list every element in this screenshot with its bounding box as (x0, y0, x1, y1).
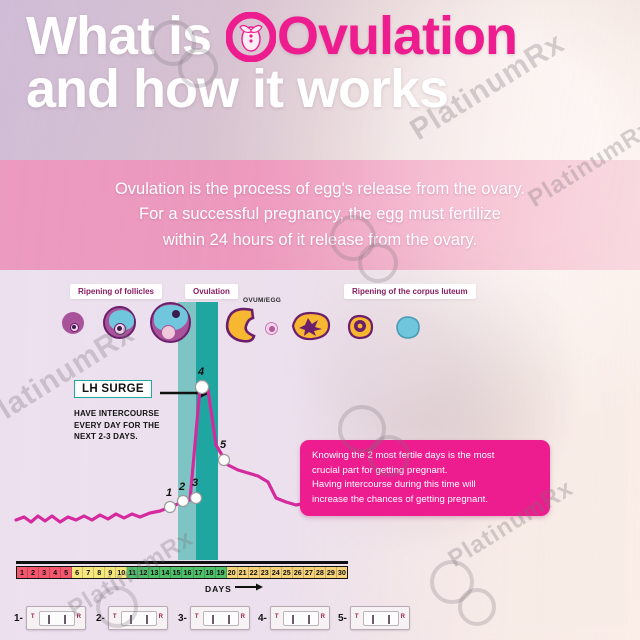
day-cell-25: 25 (282, 567, 293, 578)
day-cell-20: 20 (227, 567, 238, 578)
subtitle-banner: Ovulation is the process of egg's releas… (0, 160, 640, 270)
svg-text:4: 4 (197, 366, 204, 378)
strip-result-band (228, 615, 230, 624)
day-cell-12: 12 (138, 567, 149, 578)
day-cell-30: 30 (337, 567, 347, 578)
callout-line-1: Knowing the 2 most fertile days is the m… (312, 449, 538, 464)
test-strip-card: TR (270, 606, 330, 630)
test-strip-number: 4- (258, 613, 267, 624)
test-strip-number: 2- (96, 613, 105, 624)
day-cell-2: 2 (28, 567, 39, 578)
title-text-pre: What is (26, 6, 225, 66)
day-cell-7: 7 (83, 567, 94, 578)
day-cell-16: 16 (182, 567, 193, 578)
day-axis: 1234567891011121314151617181920212223242… (16, 566, 348, 579)
strip-result-band (130, 615, 132, 624)
test-strip-1: 1-TR (14, 606, 86, 630)
day-cell-11: 11 (127, 567, 138, 578)
strip-test-mark: T (275, 614, 279, 620)
strip-result-window (121, 611, 157, 626)
day-cell-1: 1 (17, 567, 28, 578)
callout-line-2: crucial part for getting pregnant. (312, 464, 538, 479)
strip-result-band (388, 615, 390, 624)
subtitle-line-2: For a successful pregnancy, the egg must… (139, 202, 501, 228)
test-strip-3: 3-TR (178, 606, 250, 630)
strip-test-mark: T (113, 614, 117, 620)
tulip-flower-icon (226, 12, 276, 62)
header-banner: What is Ovulation and how it works (0, 0, 640, 160)
strip-ref-mark: R (401, 614, 405, 620)
day-cell-24: 24 (271, 567, 282, 578)
day-cell-27: 27 (304, 567, 315, 578)
axis-rule (16, 561, 348, 564)
day-cell-15: 15 (171, 567, 182, 578)
test-strip-number: 5- (338, 613, 347, 624)
day-cell-6: 6 (72, 567, 83, 578)
strip-result-window (283, 611, 319, 626)
svg-text:5: 5 (220, 439, 227, 451)
svg-text:3: 3 (192, 477, 198, 489)
day-cell-29: 29 (326, 567, 337, 578)
day-cell-5: 5 (61, 567, 72, 578)
strip-result-band (64, 615, 66, 624)
day-cell-23: 23 (260, 567, 271, 578)
infographic-page: What is Ovulation and how it works Ovula… (0, 0, 640, 640)
day-cell-14: 14 (160, 567, 171, 578)
test-strip-row: 1-TR2-TR3-TR4-TR5-TR (0, 600, 640, 640)
test-strip-number: 3- (178, 613, 187, 624)
strip-result-band (292, 615, 294, 624)
day-cell-26: 26 (293, 567, 304, 578)
strip-result-window (363, 611, 399, 626)
day-cell-10: 10 (116, 567, 127, 578)
strip-result-band (146, 615, 148, 624)
strip-result-band (372, 615, 374, 624)
day-cell-8: 8 (94, 567, 105, 578)
title-line-1: What is Ovulation (26, 10, 626, 63)
day-cell-4: 4 (50, 567, 61, 578)
test-strip-5: 5-TR (338, 606, 410, 630)
strip-result-band (212, 615, 214, 624)
test-strip-card: TR (350, 606, 410, 630)
fertile-days-callout: Knowing the 2 most fertile days is the m… (300, 440, 550, 516)
strip-ref-mark: R (241, 614, 245, 620)
strip-result-band (308, 615, 310, 624)
test-strip-4: 4-TR (258, 606, 330, 630)
day-cell-18: 18 (205, 567, 216, 578)
callout-line-4: increase the chances of getting pregnant… (312, 493, 538, 508)
days-axis-label: DAYS (205, 583, 263, 594)
day-cell-19: 19 (216, 567, 227, 578)
strip-ref-mark: R (321, 614, 325, 620)
test-strip-card: TR (108, 606, 168, 630)
test-strip-number: 1- (14, 613, 23, 624)
title-line-2: and how it works (26, 63, 626, 116)
strip-ref-mark: R (77, 614, 81, 620)
test-strip-card: TR (26, 606, 86, 630)
test-strip-card: TR (190, 606, 250, 630)
day-cell-13: 13 (149, 567, 160, 578)
strip-result-window (39, 611, 75, 626)
lh-level-curve: 1 2 3 4 5 (0, 270, 640, 570)
day-cell-3: 3 (39, 567, 50, 578)
subtitle-line-3: within 24 hours of it release from the o… (163, 228, 477, 254)
title-text-accent: Ovulation (277, 6, 517, 66)
test-strip-2: 2-TR (96, 606, 168, 630)
page-title: What is Ovulation and how it works (26, 10, 626, 116)
callout-line-3: Having intercourse during this time will (312, 478, 538, 493)
ovulation-diagram: Ripening of follicles Ovulation Ripening… (0, 270, 640, 640)
svg-text:1: 1 (166, 487, 172, 499)
right-arrow-icon (235, 583, 263, 591)
strip-result-window (203, 611, 239, 626)
day-cell-21: 21 (238, 567, 249, 578)
svg-text:2: 2 (178, 481, 185, 493)
strip-test-mark: T (195, 614, 199, 620)
day-cell-9: 9 (105, 567, 116, 578)
strip-result-band (48, 615, 50, 624)
strip-ref-mark: R (159, 614, 163, 620)
strip-test-mark: T (31, 614, 35, 620)
strip-test-mark: T (355, 614, 359, 620)
day-cell-22: 22 (249, 567, 260, 578)
day-cell-28: 28 (315, 567, 326, 578)
subtitle-line-1: Ovulation is the process of egg's releas… (115, 177, 525, 203)
day-cell-17: 17 (194, 567, 205, 578)
